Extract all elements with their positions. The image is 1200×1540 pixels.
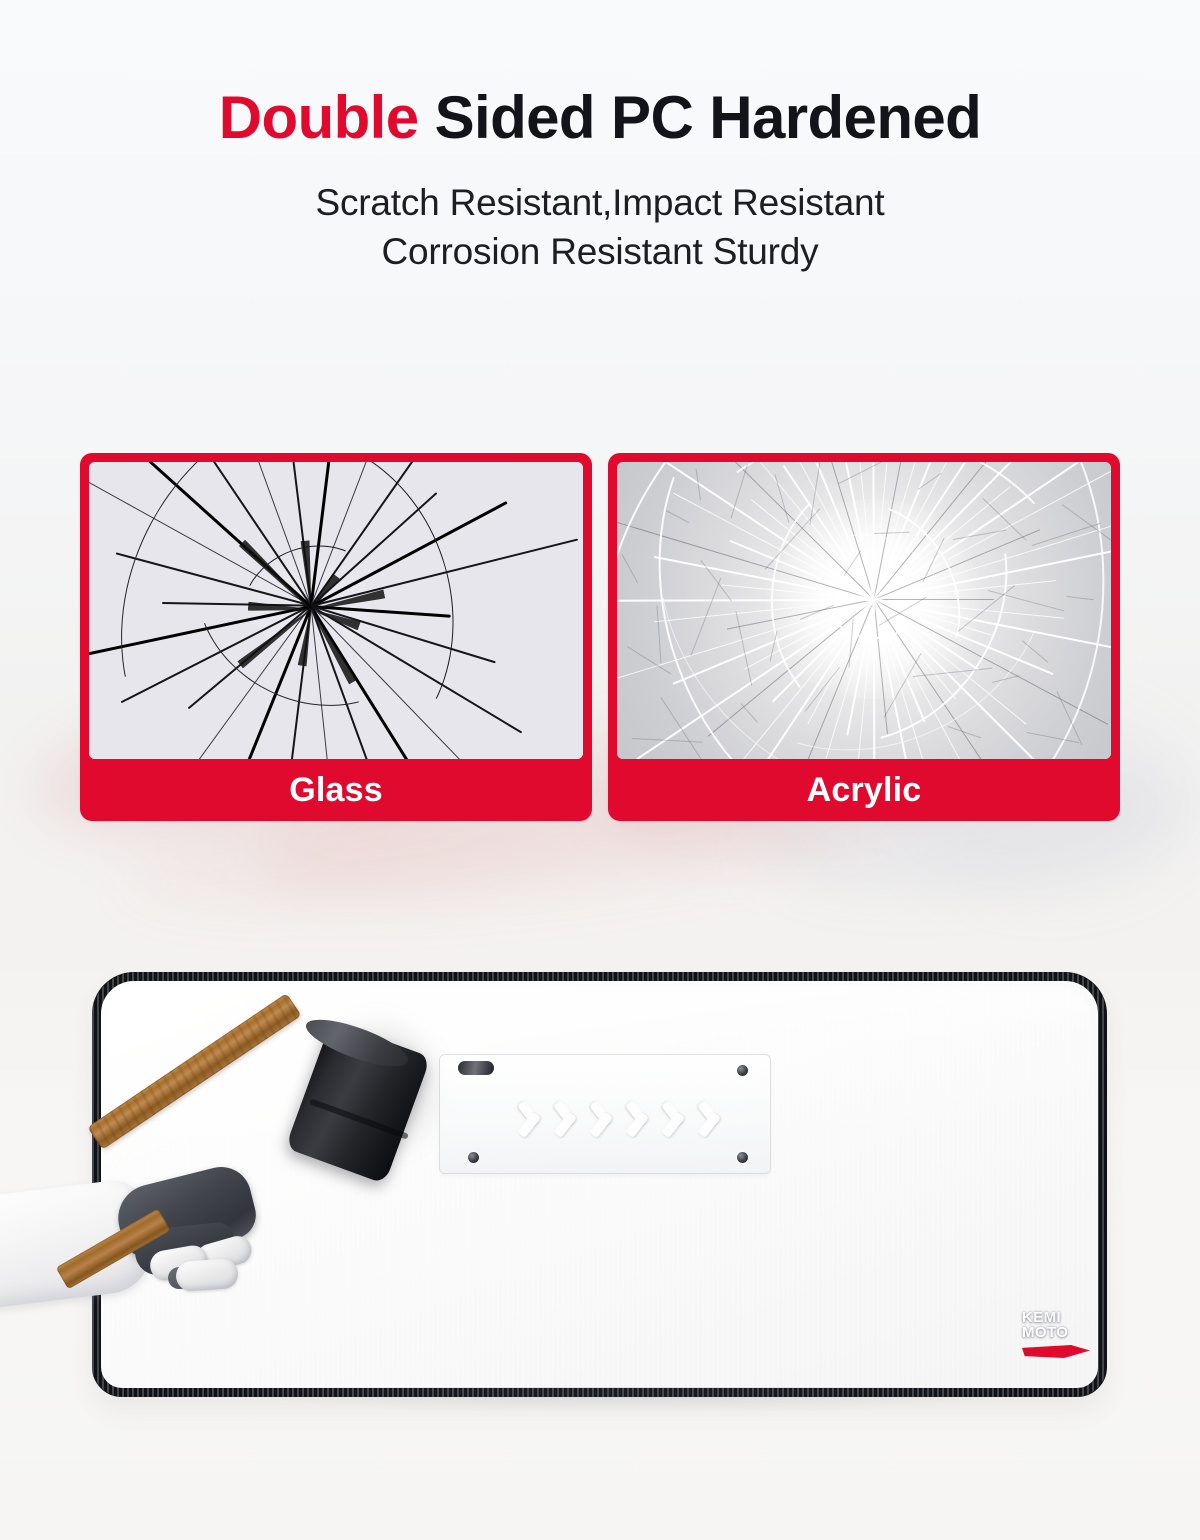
product-photo — [0, 930, 1200, 1450]
chevron-icon — [695, 1086, 725, 1142]
subtitle-line-2: Corrosion Resistant Sturdy — [0, 227, 1200, 277]
page-subtitle: Scratch Resistant,Impact Resistant Corro… — [0, 178, 1200, 277]
headline-rest: Sided PC Hardened — [419, 84, 982, 151]
brand-line-1: KEMI — [1022, 1310, 1094, 1325]
subtitle-line-1: Scratch Resistant,Impact Resistant — [0, 178, 1200, 228]
kemimoto-logo: KEMI MOTO — [1022, 1310, 1094, 1368]
acrylic-crack-image — [617, 462, 1111, 759]
brand-swoosh — [1022, 1345, 1090, 1358]
vent-rivet — [468, 1152, 479, 1163]
brand-line-2: MOTO — [1022, 1325, 1094, 1340]
chevron-icon — [587, 1086, 617, 1142]
vent-latch — [458, 1061, 494, 1075]
comparison-label-glass: Glass — [89, 759, 583, 821]
chevron-row — [515, 1086, 725, 1142]
chevron-icon — [551, 1086, 581, 1142]
page-title: Double Sided PC Hardened — [0, 86, 1200, 150]
header-block: Double Sided PC Hardened Scratch Resista… — [0, 86, 1200, 277]
comparison-card-glass: Glass — [80, 453, 592, 821]
headline-accent-word: Double — [219, 84, 419, 151]
mallet-handle — [87, 993, 301, 1150]
glove-finger — [175, 1258, 239, 1292]
vent-rivet — [737, 1152, 748, 1163]
vent-rivet — [737, 1065, 748, 1076]
chevron-vent-decal — [440, 1055, 770, 1173]
comparison-label-acrylic: Acrylic — [617, 759, 1111, 821]
comparison-card-acrylic: Acrylic — [608, 453, 1120, 821]
chevron-icon — [515, 1086, 545, 1142]
chevron-icon — [659, 1086, 689, 1142]
chevron-icon — [623, 1086, 653, 1142]
material-comparison-row: Glass Acrylic — [80, 453, 1120, 821]
glass-crack-image — [89, 462, 583, 759]
